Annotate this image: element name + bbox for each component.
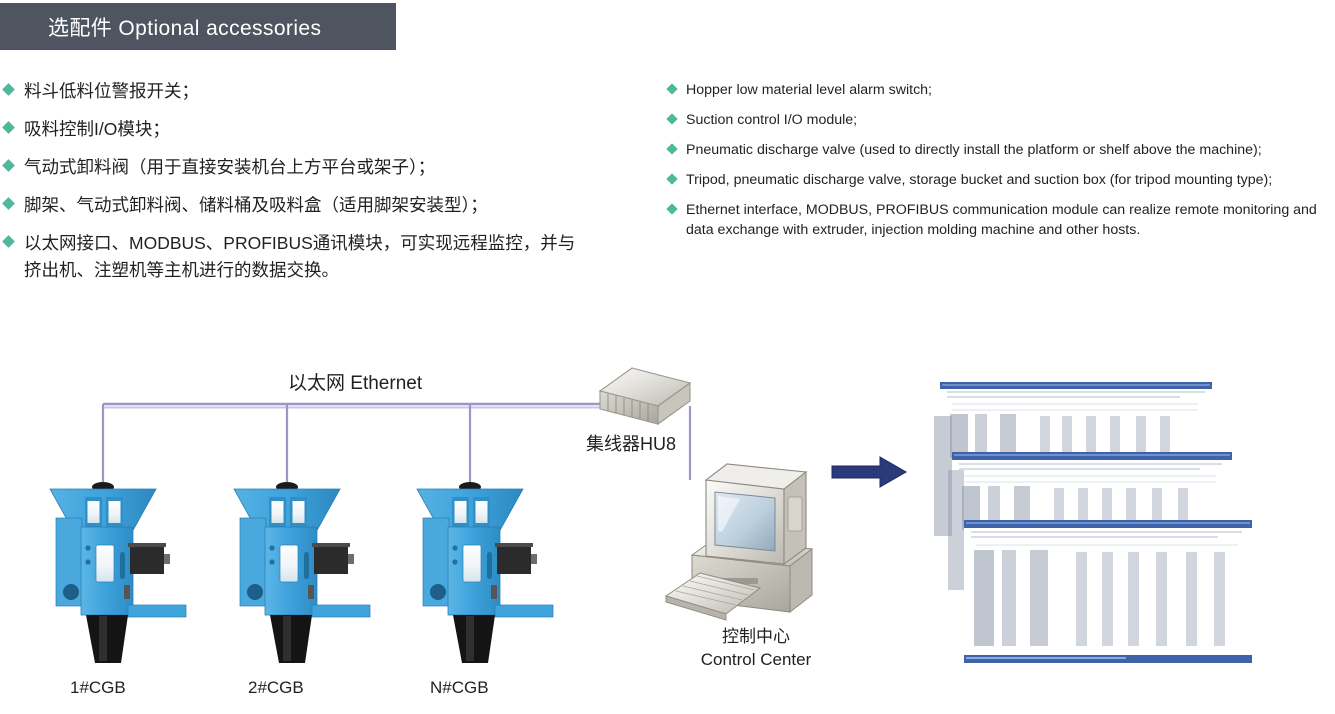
control-center-label-en: Control Center [676,648,836,671]
flow-arrow-icon [832,457,906,487]
machine-label-2: 2#CGB [248,678,304,698]
machine-unit-2 [234,482,370,663]
report-window [964,520,1252,672]
control-center-computer-icon [666,464,812,620]
hub-label: 集线器HU8 [586,430,676,456]
page-root: 选配件 Optional accessories 料斗低料位警报开关； 吸料控制… [0,0,1335,714]
machine-unit-1 [50,482,186,663]
network-diagram [0,0,1335,714]
ethernet-label: 以太网 Ethernet [288,368,422,395]
network-hub-icon [600,368,690,424]
machine-label-3: N#CGB [430,678,489,698]
control-center-label: 控制中心 Control Center [676,625,836,671]
control-center-label-cn: 控制中心 [676,625,836,648]
report-windows [934,382,1252,672]
machine-unit-3 [417,482,553,663]
machine-label-1: 1#CGB [70,678,126,698]
